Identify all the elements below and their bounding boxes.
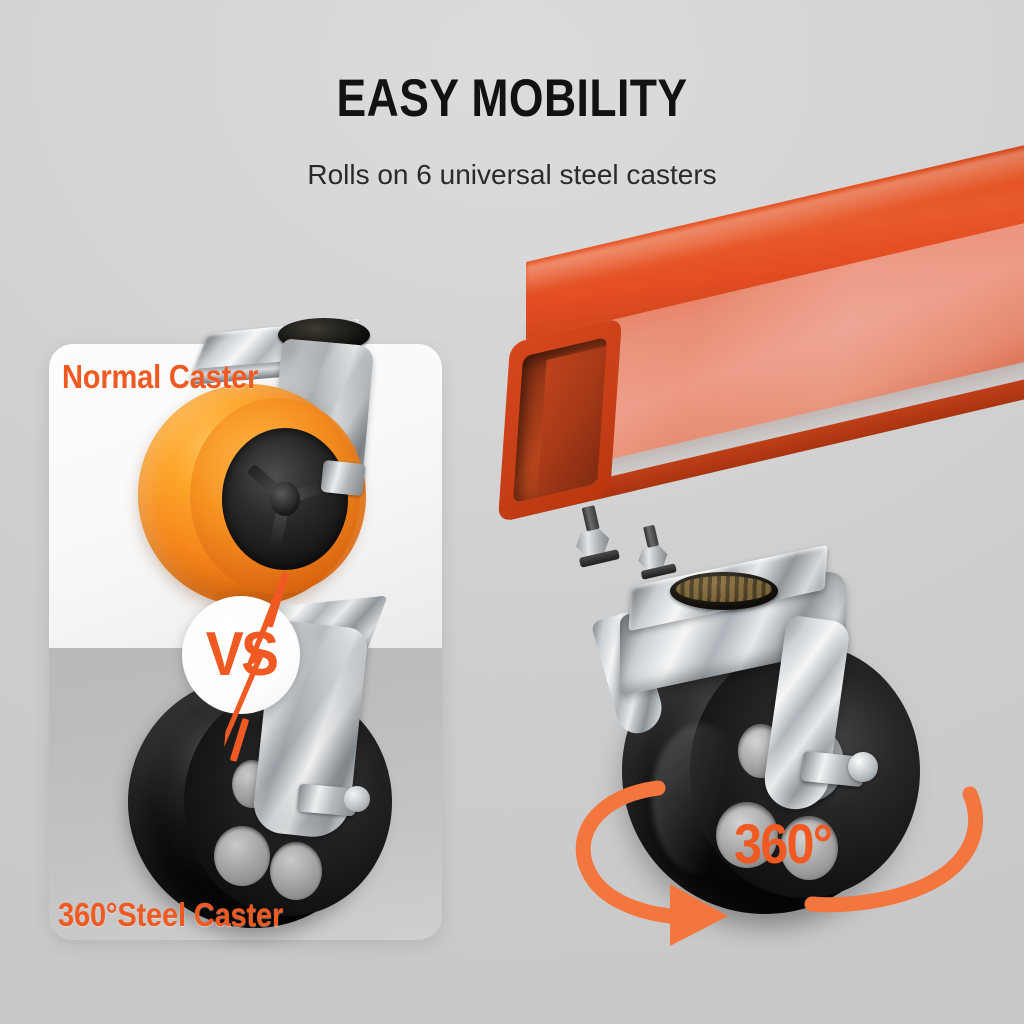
caster-axle-cap xyxy=(344,786,370,812)
wheel-lightening-hole xyxy=(214,826,270,886)
rotation-degrees-label: 360° xyxy=(734,816,831,872)
normal-caster-label: Normal Caster xyxy=(62,360,258,393)
versus-badge: VS xyxy=(182,596,300,714)
orange-square-steel-tube xyxy=(486,214,1024,614)
wheel-hub xyxy=(222,428,348,570)
caster-axle-bolt xyxy=(320,460,365,496)
bolt-stud xyxy=(643,525,659,548)
page-title: EASY MOBILITY xyxy=(82,72,942,125)
tube-inner-wall xyxy=(537,346,606,494)
product-feature-image: EASY MOBILITY Rolls on 6 universal steel… xyxy=(0,0,1024,1024)
caster-bearing-balls xyxy=(676,576,772,602)
hub-center xyxy=(270,482,300,516)
bolt-stud xyxy=(581,505,599,531)
polyurethane-wheel xyxy=(138,384,360,606)
steel-caster-label: 360°Steel Caster xyxy=(58,898,283,931)
rotation-callout: 360° xyxy=(566,770,986,950)
wheel-lightening-hole xyxy=(270,842,322,900)
